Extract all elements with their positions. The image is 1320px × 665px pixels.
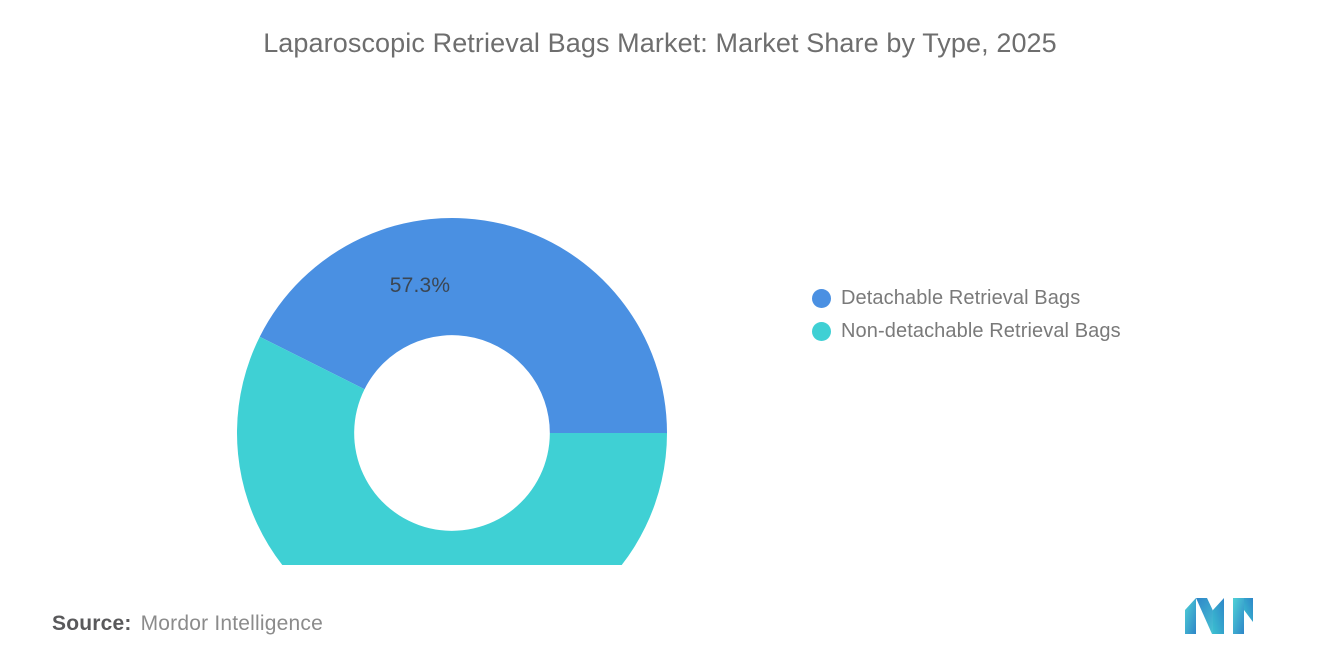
legend-label-detachable-retrieval-bags: Detachable Retrieval Bags <box>841 287 1080 310</box>
legend-label-non-detachable-retrieval-bags: Non-detachable Retrieval Bags <box>841 320 1121 343</box>
mordor-intelligence-logo-icon <box>1183 596 1255 636</box>
donut-chart: 57.3% <box>0 95 780 565</box>
source-label: Source: <box>52 612 132 636</box>
donut-chart-svg <box>0 95 780 565</box>
legend-swatch-icon-non-detachable-retrieval-bags <box>812 322 831 341</box>
legend-item-detachable-retrieval-bags[interactable]: Detachable Retrieval Bags <box>812 282 1232 315</box>
source-value: Mordor Intelligence <box>141 612 323 636</box>
source-attribution: Source: Mordor Intelligence <box>52 612 323 636</box>
legend-swatch-icon-detachable-retrieval-bags <box>812 289 831 308</box>
legend-item-non-detachable-retrieval-bags[interactable]: Non-detachable Retrieval Bags <box>812 315 1232 348</box>
chart-legend: Detachable Retrieval Bags Non-detachable… <box>812 282 1232 348</box>
page-title: Laparoscopic Retrieval Bags Market: Mark… <box>0 28 1320 59</box>
